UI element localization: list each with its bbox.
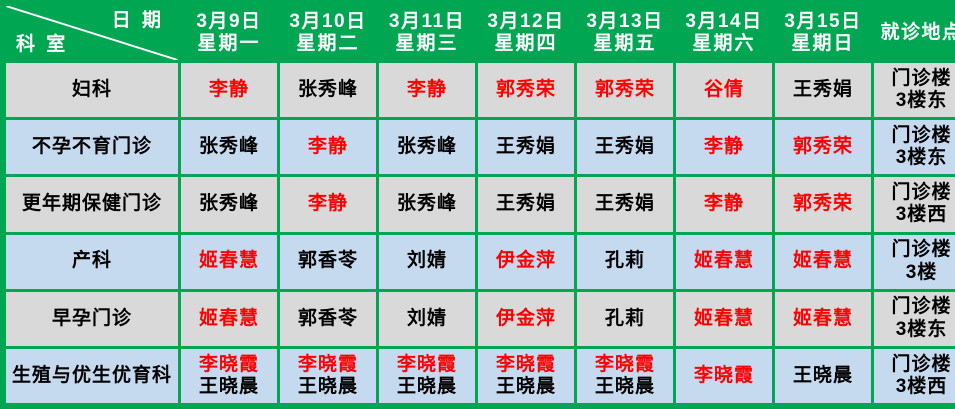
header-day-2-date: 3月11日 (379, 11, 475, 33)
doctor-cell[interactable]: 郭秀荣 (478, 63, 574, 117)
doctor-name: 王秀娟 (478, 193, 574, 215)
doctor-name: 郭秀荣 (577, 79, 673, 101)
doctor-name: 王晓晨 (379, 376, 475, 398)
outpatient-schedule-table: 日 期 科 室 3月9日 星期一 3月10日 星期二 3月11日 星期三 3月1… (3, 3, 955, 406)
doctor-name: 李静 (676, 193, 772, 215)
doctor-name: 郭秀荣 (775, 136, 871, 158)
doctor-cell[interactable]: 王秀娟 (577, 120, 673, 174)
visit-location-line: 3楼西 (874, 204, 955, 226)
header-day-0-date: 3月9日 (181, 11, 277, 33)
doctor-cell[interactable]: 王秀娟 (775, 63, 871, 117)
header-day-3-date: 3月12日 (478, 11, 574, 33)
doctor-name: 王秀娟 (577, 136, 673, 158)
doctor-name: 郭香苓 (280, 308, 376, 330)
doctor-name: 郭秀荣 (478, 79, 574, 101)
doctor-name: 孔莉 (577, 308, 673, 330)
doctor-cell[interactable]: 李晓霞王晓晨 (379, 349, 475, 403)
doctor-name: 李晓霞 (181, 354, 277, 376)
doctor-cell[interactable]: 谷倩 (676, 63, 772, 117)
visit-location-line: 3楼东 (874, 147, 955, 169)
table-header-row: 日 期 科 室 3月9日 星期一 3月10日 星期二 3月11日 星期三 3月1… (6, 6, 955, 60)
doctor-cell[interactable]: 孔莉 (577, 235, 673, 289)
header-day-1-weekday: 星期二 (280, 33, 376, 55)
visit-location-line: 门诊楼 (874, 296, 955, 318)
table-row: 妇科李静张秀峰李静郭秀荣郭秀荣谷倩王秀娟门诊楼3楼东 (6, 63, 955, 117)
doctor-name: 李静 (280, 193, 376, 215)
doctor-name: 姬春慧 (676, 308, 772, 330)
doctor-cell[interactable]: 郭香苓 (280, 292, 376, 346)
table-row: 不孕不育门诊张秀峰李静张秀峰王秀娟王秀娟李静郭秀荣门诊楼3楼东 (6, 120, 955, 174)
doctor-cell[interactable]: 李静 (379, 63, 475, 117)
doctor-name: 王秀娟 (775, 79, 871, 101)
header-day-1: 3月10日 星期二 (280, 6, 376, 60)
doctor-name: 郭秀荣 (775, 193, 871, 215)
doctor-cell[interactable]: 郭秀荣 (775, 120, 871, 174)
doctor-name: 姬春慧 (181, 250, 277, 272)
doctor-cell[interactable]: 李静 (676, 177, 772, 231)
doctor-name: 王晓晨 (181, 376, 277, 398)
header-day-4-date: 3月13日 (577, 11, 673, 33)
doctor-cell[interactable]: 刘婧 (379, 235, 475, 289)
visit-location-line: 3楼东 (874, 90, 955, 112)
header-place-label: 就诊地点 (874, 6, 955, 60)
doctor-name: 谷倩 (676, 79, 772, 101)
doctor-name: 孔莉 (577, 250, 673, 272)
doctor-name: 郭香苓 (280, 250, 376, 272)
doctor-cell[interactable]: 伊金萍 (478, 235, 574, 289)
header-day-2-weekday: 星期三 (379, 33, 475, 55)
doctor-cell[interactable]: 李静 (676, 120, 772, 174)
header-corner-cell: 日 期 科 室 (6, 6, 178, 60)
visit-location-line: 门诊楼 (874, 125, 955, 147)
department-name-cell[interactable]: 妇科 (6, 63, 178, 117)
doctor-name: 李晓霞 (478, 354, 574, 376)
doctor-cell[interactable]: 刘婧 (379, 292, 475, 346)
department-name-cell[interactable]: 更年期保健门诊 (6, 177, 178, 231)
doctor-name: 伊金萍 (478, 250, 574, 272)
visit-location-cell: 门诊楼3楼西 (874, 349, 955, 403)
header-day-3-weekday: 星期四 (478, 33, 574, 55)
doctor-cell[interactable]: 王秀娟 (577, 177, 673, 231)
visit-location-line: 3楼 (874, 262, 955, 284)
schedule-table-container: 日 期 科 室 3月9日 星期一 3月10日 星期二 3月11日 星期三 3月1… (0, 0, 955, 409)
header-day-3: 3月12日 星期四 (478, 6, 574, 60)
table-row: 生殖与优生优育科李晓霞王晓晨李晓霞王晓晨李晓霞王晓晨李晓霞王晓晨李晓霞王晓晨李晓… (6, 349, 955, 403)
visit-location-line: 门诊楼 (874, 182, 955, 204)
doctor-cell[interactable]: 郭秀荣 (577, 63, 673, 117)
doctor-name: 王晓晨 (577, 376, 673, 398)
schedule-body: 日 期 科 室 3月9日 星期一 3月10日 星期二 3月11日 星期三 3月1… (6, 6, 955, 403)
doctor-cell[interactable]: 张秀峰 (379, 177, 475, 231)
doctor-name: 姬春慧 (676, 250, 772, 272)
header-day-6-weekday: 星期日 (775, 33, 871, 55)
doctor-cell[interactable]: 郭香苓 (280, 235, 376, 289)
doctor-cell[interactable]: 李晓霞 (676, 349, 772, 403)
doctor-cell[interactable]: 姬春慧 (775, 292, 871, 346)
doctor-cell[interactable]: 姬春慧 (181, 292, 277, 346)
doctor-name: 李晓霞 (280, 354, 376, 376)
department-name-cell[interactable]: 生殖与优生优育科 (6, 349, 178, 403)
visit-location-cell: 门诊楼3楼西 (874, 177, 955, 231)
header-date-label: 日 期 (112, 10, 164, 32)
header-day-0-weekday: 星期一 (181, 33, 277, 55)
doctor-cell[interactable]: 张秀峰 (181, 177, 277, 231)
doctor-name: 刘婧 (379, 308, 475, 330)
doctor-name: 王秀娟 (478, 136, 574, 158)
doctor-name: 张秀峰 (379, 193, 475, 215)
doctor-name: 王晓晨 (478, 376, 574, 398)
doctor-name: 李静 (181, 79, 277, 101)
doctor-name: 刘婧 (379, 250, 475, 272)
visit-location-line: 门诊楼 (874, 68, 955, 90)
visit-location-cell: 门诊楼3楼东 (874, 63, 955, 117)
doctor-cell[interactable]: 张秀峰 (280, 63, 376, 117)
header-day-4: 3月13日 星期五 (577, 6, 673, 60)
doctor-cell[interactable]: 姬春慧 (676, 235, 772, 289)
header-day-6-date: 3月15日 (775, 11, 871, 33)
department-name-cell[interactable]: 产科 (6, 235, 178, 289)
doctor-name: 李静 (676, 136, 772, 158)
doctor-cell[interactable]: 李晓霞王晓晨 (577, 349, 673, 403)
doctor-cell[interactable]: 伊金萍 (478, 292, 574, 346)
visit-location-cell: 门诊楼3楼东 (874, 120, 955, 174)
doctor-name: 张秀峰 (379, 136, 475, 158)
visit-location-line: 3楼东 (874, 319, 955, 341)
department-name-cell[interactable]: 不孕不育门诊 (6, 120, 178, 174)
header-department-label: 科 室 (16, 34, 68, 56)
doctor-name: 李晓霞 (379, 354, 475, 376)
doctor-name: 王晓晨 (775, 365, 871, 387)
doctor-cell[interactable]: 王秀娟 (478, 177, 574, 231)
visit-location-line: 3楼西 (874, 376, 955, 398)
header-day-5: 3月14日 星期六 (676, 6, 772, 60)
header-day-0: 3月9日 星期一 (181, 6, 277, 60)
doctor-name: 李晓霞 (577, 354, 673, 376)
doctor-cell[interactable]: 李静 (280, 177, 376, 231)
doctor-cell[interactable]: 李晓霞王晓晨 (280, 349, 376, 403)
header-day-1-date: 3月10日 (280, 11, 376, 33)
header-day-5-weekday: 星期六 (676, 33, 772, 55)
doctor-cell[interactable]: 张秀峰 (379, 120, 475, 174)
doctor-name: 张秀峰 (181, 136, 277, 158)
table-row: 早孕门诊姬春慧郭香苓刘婧伊金萍孔莉姬春慧姬春慧门诊楼3楼东 (6, 292, 955, 346)
doctor-cell[interactable]: 李晓霞王晓晨 (181, 349, 277, 403)
doctor-cell[interactable]: 王晓晨 (775, 349, 871, 403)
doctor-cell[interactable]: 孔莉 (577, 292, 673, 346)
visit-location-cell: 门诊楼3楼东 (874, 292, 955, 346)
doctor-name: 王晓晨 (280, 376, 376, 398)
header-day-4-weekday: 星期五 (577, 33, 673, 55)
doctor-cell[interactable]: 李静 (181, 63, 277, 117)
table-row: 产科姬春慧郭香苓刘婧伊金萍孔莉姬春慧姬春慧门诊楼3楼 (6, 235, 955, 289)
doctor-cell[interactable]: 李静 (280, 120, 376, 174)
doctor-name: 李晓霞 (676, 365, 772, 387)
visit-location-line: 门诊楼 (874, 354, 955, 376)
visit-location-cell: 门诊楼3楼 (874, 235, 955, 289)
doctor-cell[interactable]: 姬春慧 (676, 292, 772, 346)
doctor-name: 姬春慧 (181, 308, 277, 330)
doctor-cell[interactable]: 张秀峰 (181, 120, 277, 174)
doctor-name: 李静 (280, 136, 376, 158)
doctor-name: 伊金萍 (478, 308, 574, 330)
doctor-name: 姬春慧 (775, 250, 871, 272)
doctor-name: 李静 (379, 79, 475, 101)
doctor-name: 王秀娟 (577, 193, 673, 215)
doctor-cell[interactable]: 姬春慧 (775, 235, 871, 289)
doctor-cell[interactable]: 姬春慧 (181, 235, 277, 289)
doctor-cell[interactable]: 郭秀荣 (775, 177, 871, 231)
doctor-name: 张秀峰 (280, 79, 376, 101)
doctor-name: 姬春慧 (775, 308, 871, 330)
visit-location-line: 门诊楼 (874, 239, 955, 261)
doctor-cell[interactable]: 王秀娟 (478, 120, 574, 174)
doctor-name: 张秀峰 (181, 193, 277, 215)
doctor-cell[interactable]: 李晓霞王晓晨 (478, 349, 574, 403)
header-day-2: 3月11日 星期三 (379, 6, 475, 60)
department-name-cell[interactable]: 早孕门诊 (6, 292, 178, 346)
header-day-6: 3月15日 星期日 (775, 6, 871, 60)
header-day-5-date: 3月14日 (676, 11, 772, 33)
table-row: 更年期保健门诊张秀峰李静张秀峰王秀娟王秀娟李静郭秀荣门诊楼3楼西 (6, 177, 955, 231)
